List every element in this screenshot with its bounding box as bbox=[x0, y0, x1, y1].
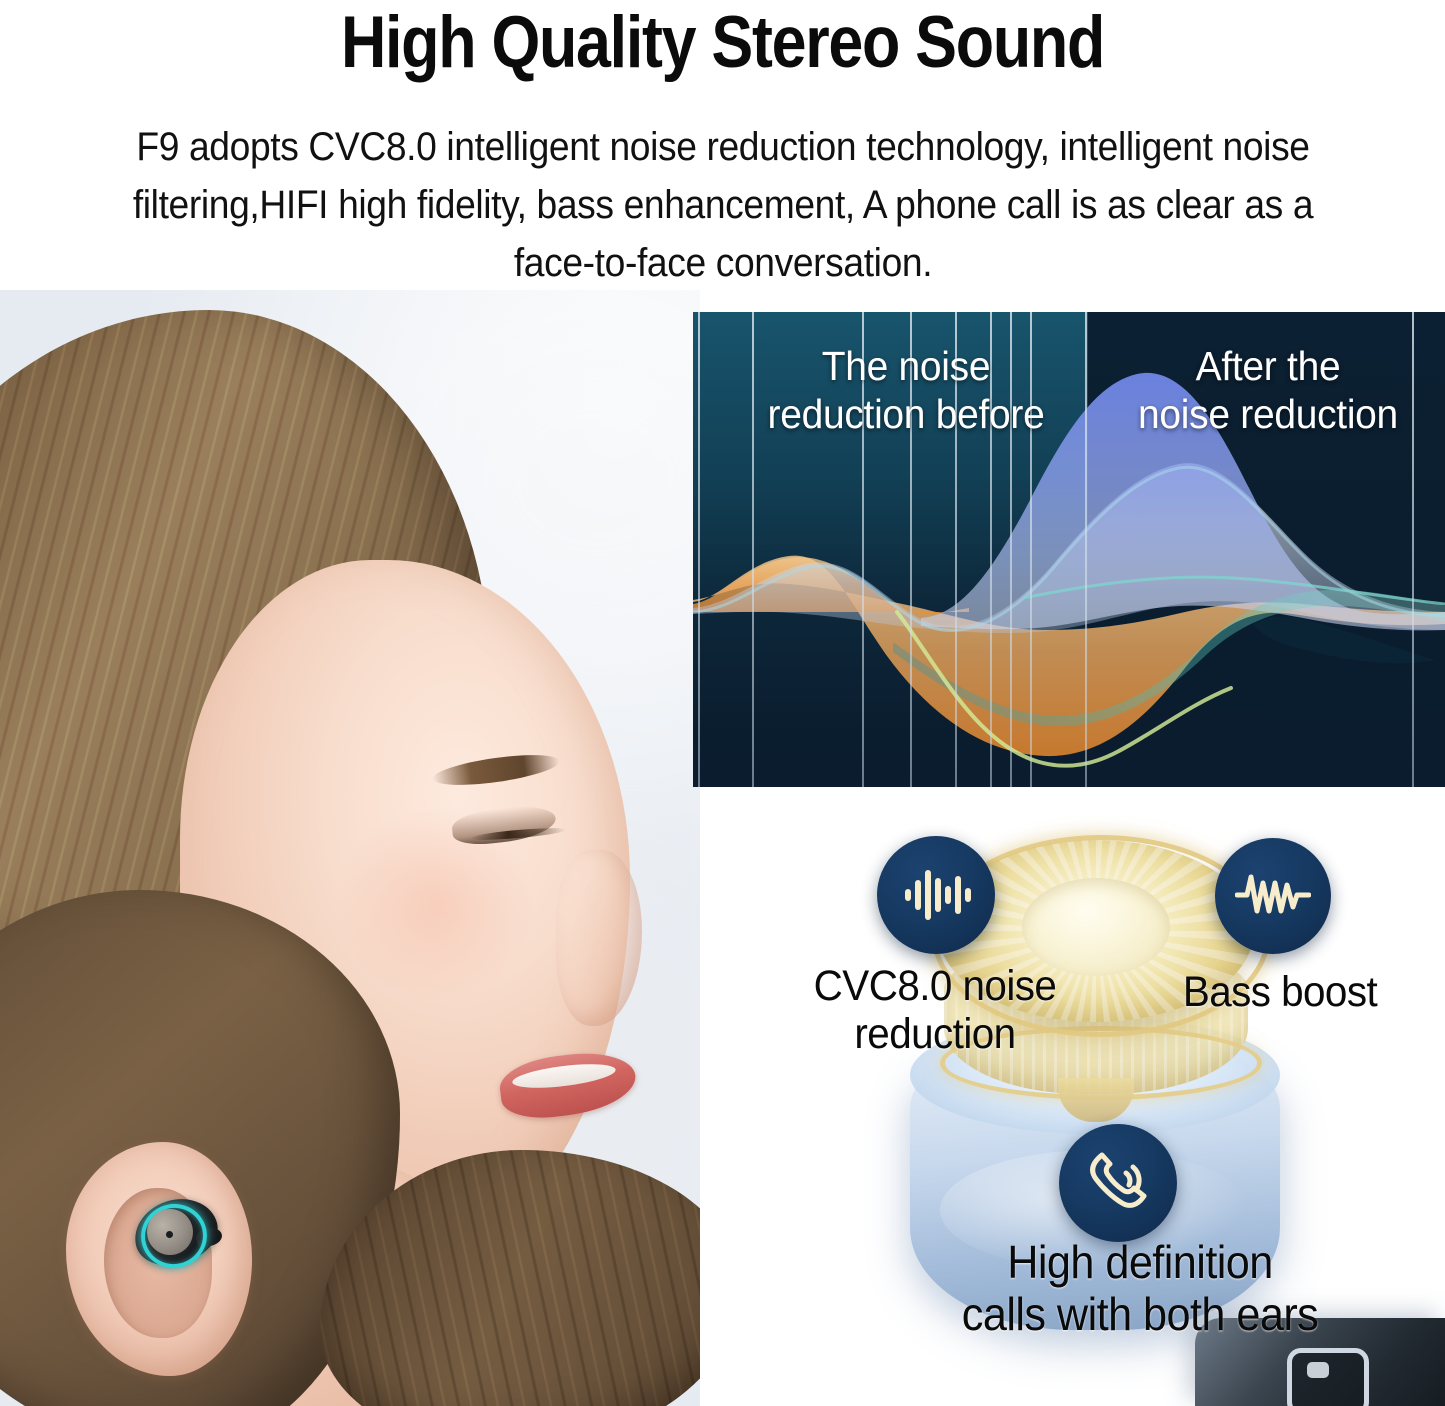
feature-icon-bass-boost bbox=[1215, 838, 1331, 954]
noise-reduction-chart: The noise reduction before After the noi… bbox=[693, 312, 1445, 787]
feature-icon-hd-calls bbox=[1059, 1124, 1177, 1242]
description-line-2: filtering,HIFI high fidelity, bass enhan… bbox=[71, 176, 1375, 234]
equalizer-bars-icon bbox=[899, 858, 973, 932]
chart-label-after-line1: After the bbox=[1100, 342, 1436, 390]
feature-label-bass-boost: Bass boost bbox=[1139, 968, 1421, 1016]
feature-label-calls-line2: calls with both ears bbox=[858, 1288, 1422, 1340]
feature-label-hd-calls: High definition calls with both ears bbox=[858, 1236, 1422, 1340]
description-line-1: F9 adopts CVC8.0 intelligent noise reduc… bbox=[71, 118, 1375, 176]
feature-icon-cvc-noise-reduction bbox=[877, 836, 995, 954]
phone-handset-icon bbox=[1082, 1147, 1154, 1219]
chart-label-after-line2: noise reduction bbox=[1100, 390, 1436, 438]
case-button-outline bbox=[1287, 1348, 1369, 1406]
chart-label-before-line1: The noise bbox=[721, 342, 1092, 390]
chart-label-before: The noise reduction before bbox=[721, 342, 1092, 438]
feature-label-calls-line1: High definition bbox=[858, 1236, 1422, 1288]
chart-label-after: After the noise reduction bbox=[1100, 342, 1436, 438]
feature-label-bass-line1: Bass boost bbox=[1139, 968, 1421, 1016]
earbud-mic-dot bbox=[166, 1231, 173, 1238]
feature-label-cvc-line1: CVC8.0 noise bbox=[771, 962, 1100, 1010]
page-description: F9 adopts CVC8.0 intelligent noise reduc… bbox=[71, 118, 1375, 292]
page-title: High Quality Stereo Sound bbox=[101, 4, 1344, 82]
feature-label-cvc-line2: reduction bbox=[771, 1010, 1100, 1058]
lifestyle-photo bbox=[0, 290, 700, 1406]
description-line-3: face-to-face conversation. bbox=[71, 234, 1375, 292]
case-button-glint bbox=[1307, 1362, 1329, 1378]
feature-label-cvc-noise-reduction: CVC8.0 noise reduction bbox=[771, 962, 1100, 1058]
chart-label-before-line2: reduction before bbox=[721, 390, 1092, 438]
product-feature-page: High Quality Stereo Sound F9 adopts CVC8… bbox=[0, 0, 1445, 1406]
waveform-pulse-icon bbox=[1235, 865, 1311, 927]
